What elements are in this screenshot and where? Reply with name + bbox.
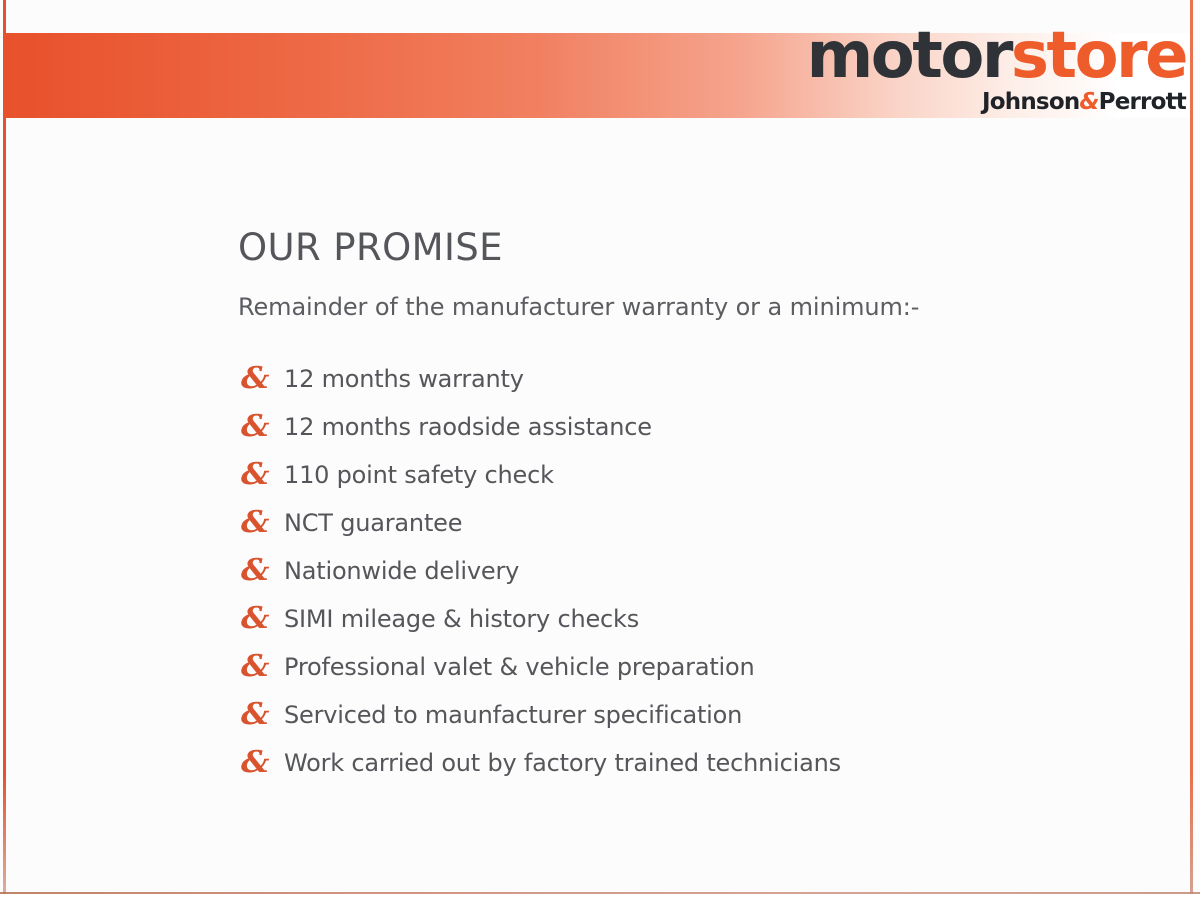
ampersand-bullet-icon: & [237, 460, 285, 490]
list-item-label: SIMI mileage & history checks [284, 606, 639, 632]
ampersand-bullet-icon: & [237, 412, 285, 442]
ampersand-icon: & [1079, 89, 1098, 115]
list-item: & Nationwide delivery [238, 547, 1168, 595]
page-subtitle: Remainder of the manufacturer warranty o… [238, 293, 1168, 322]
list-item-label: Work carried out by factory trained tech… [284, 750, 841, 776]
main-content: OUR PROMISE Remainder of the manufacture… [238, 228, 1168, 787]
header: motorstore Johnson&Perrott [0, 0, 1200, 130]
list-item: & 110 point safety check [238, 451, 1168, 499]
page-title: OUR PROMISE [238, 228, 1168, 269]
list-item: & Professional valet & vehicle preparati… [238, 643, 1168, 691]
page-border-left [3, 0, 6, 900]
logo-subbrand-perrott: Perrott [1099, 89, 1186, 115]
list-item-label: Nationwide delivery [284, 558, 519, 584]
logo-word-store: store [1011, 19, 1186, 93]
page-border-right [1190, 0, 1193, 900]
list-item: & 12 months warranty [238, 355, 1168, 403]
list-item-label: 12 months raodside assistance [284, 414, 652, 440]
list-item-label: NCT guarantee [284, 510, 462, 536]
ampersand-bullet-icon: & [237, 652, 285, 682]
list-item-label: 110 point safety check [284, 462, 554, 488]
ampersand-bullet-icon: & [237, 556, 285, 586]
list-item-label: Serviced to maunfacturer specification [284, 702, 742, 728]
logo-word-motor: motor [807, 19, 1011, 93]
ampersand-bullet-icon: & [237, 700, 285, 730]
list-item-label: Professional valet & vehicle preparation [284, 654, 755, 680]
logo-subbrand: Johnson&Perrott [807, 91, 1186, 114]
ampersand-bullet-icon: & [237, 364, 285, 394]
list-item: & Work carried out by factory trained te… [238, 739, 1168, 787]
brand-logo: motorstore Johnson&Perrott [807, 24, 1186, 114]
logo-subbrand-johnson: Johnson [982, 89, 1079, 115]
list-item-label: 12 months warranty [284, 366, 524, 392]
ampersand-bullet-icon: & [237, 604, 285, 634]
page-footer-spacer [0, 894, 1200, 900]
ampersand-bullet-icon: & [237, 748, 285, 778]
list-item: & Serviced to maunfacturer specification [238, 691, 1168, 739]
promise-slide: motorstore Johnson&Perrott OUR PROMISE R… [0, 0, 1200, 900]
list-item: & NCT guarantee [238, 499, 1168, 547]
logo-wordmark: motorstore [807, 24, 1186, 88]
list-item: & SIMI mileage & history checks [238, 595, 1168, 643]
promise-list: & 12 months warranty & 12 months raodsid… [238, 355, 1168, 787]
list-item: & 12 months raodside assistance [238, 403, 1168, 451]
ampersand-bullet-icon: & [237, 508, 285, 538]
